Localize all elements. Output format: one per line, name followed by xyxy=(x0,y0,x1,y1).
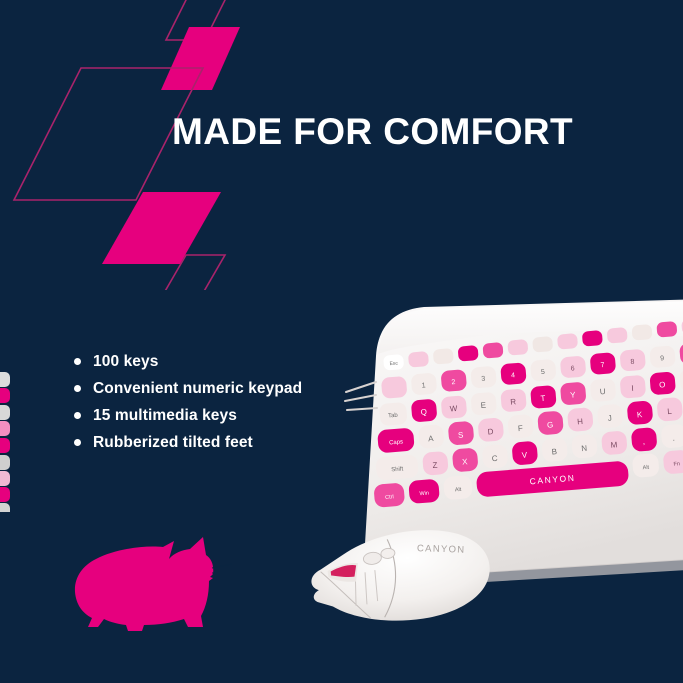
svg-text:T: T xyxy=(540,394,546,403)
feature-label: Convenient numeric keypad xyxy=(93,380,302,398)
svg-text:Esc: Esc xyxy=(389,360,398,367)
svg-text:1: 1 xyxy=(421,382,426,389)
svg-text:Win: Win xyxy=(419,490,429,497)
svg-text:E: E xyxy=(480,401,486,410)
svg-text:9: 9 xyxy=(660,355,665,362)
adjacent-image-sliver xyxy=(0,372,12,512)
product-mouse: CANYON xyxy=(296,518,506,628)
svg-text:Fn: Fn xyxy=(673,461,680,467)
svg-text:Ctrl: Ctrl xyxy=(385,494,394,501)
svg-text:F: F xyxy=(518,424,524,433)
feature-label: 100 keys xyxy=(93,353,158,371)
svg-text:Caps: Caps xyxy=(389,439,403,446)
page-title: MADE FOR COMFORT xyxy=(172,113,573,150)
svg-text:6: 6 xyxy=(571,365,576,372)
cat-whiskers-icon xyxy=(212,564,234,573)
mouse-brand-label: CANYON xyxy=(417,543,466,556)
list-item: 100 keys xyxy=(74,348,302,375)
svg-text:8: 8 xyxy=(630,359,635,366)
svg-text:C: C xyxy=(491,454,498,463)
svg-text:N: N xyxy=(581,444,588,453)
feature-list: 100 keys Convenient numeric keypad 15 mu… xyxy=(74,348,302,456)
bullet-dot-icon xyxy=(74,358,81,365)
keyboard-whisker-detail-icon xyxy=(345,382,377,410)
feature-label: 15 multimedia keys xyxy=(93,407,237,425)
feature-label: Rubberized tilted feet xyxy=(93,434,253,452)
bullet-dot-icon xyxy=(74,439,81,446)
solid-parallelogram-top-icon xyxy=(161,27,240,90)
svg-text:Q: Q xyxy=(420,407,427,416)
cat-silhouette-icon xyxy=(62,528,252,636)
svg-text:M: M xyxy=(610,440,618,450)
svg-text:B: B xyxy=(551,447,557,456)
svg-text:Shift: Shift xyxy=(391,466,404,473)
svg-text:S: S xyxy=(458,431,464,440)
svg-text:W: W xyxy=(449,404,458,414)
svg-text:Z: Z xyxy=(432,461,438,470)
list-item: 15 multimedia keys xyxy=(74,402,302,429)
svg-text:2: 2 xyxy=(451,379,456,386)
svg-text:Alt: Alt xyxy=(455,487,462,494)
svg-text:7: 7 xyxy=(600,362,605,369)
svg-text:5: 5 xyxy=(541,369,546,376)
solid-parallelogram-bottom-icon xyxy=(102,192,221,264)
svg-text:O: O xyxy=(659,380,666,389)
svg-text:U: U xyxy=(599,387,606,396)
list-item: Convenient numeric keypad xyxy=(74,375,302,402)
svg-text:G: G xyxy=(547,420,554,429)
svg-text:D: D xyxy=(487,427,494,436)
svg-text:J: J xyxy=(607,414,612,423)
svg-text:Alt: Alt xyxy=(642,465,649,472)
svg-text:3: 3 xyxy=(481,376,486,383)
svg-text:Tab: Tab xyxy=(388,413,399,420)
cat-body-shape xyxy=(75,537,213,631)
promo-banner: MADE FOR COMFORT 100 keys Convenient num… xyxy=(0,0,683,683)
svg-text:4: 4 xyxy=(511,372,516,379)
svg-text:H: H xyxy=(577,417,584,426)
bullet-dot-icon xyxy=(74,412,81,419)
bullet-dot-icon xyxy=(74,385,81,392)
list-item: Rubberized tilted feet xyxy=(74,429,302,456)
svg-text:R: R xyxy=(510,397,517,406)
